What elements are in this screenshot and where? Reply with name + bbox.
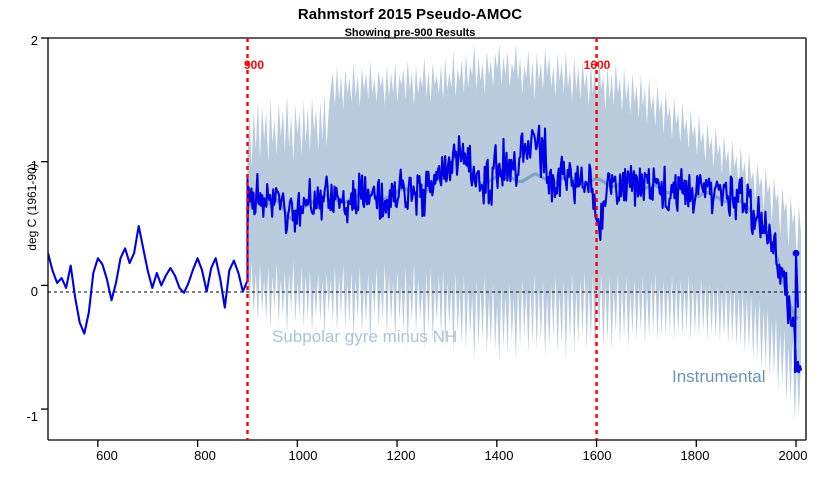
- chart-root: Rahmstorf 2015 Pseudo-AMOC Showing pre-9…: [0, 0, 820, 480]
- final-point-marker: [793, 250, 800, 257]
- uncertainty-band: [248, 44, 802, 421]
- uncertainty-band-group: [248, 44, 802, 421]
- plot-canvas: [0, 0, 820, 480]
